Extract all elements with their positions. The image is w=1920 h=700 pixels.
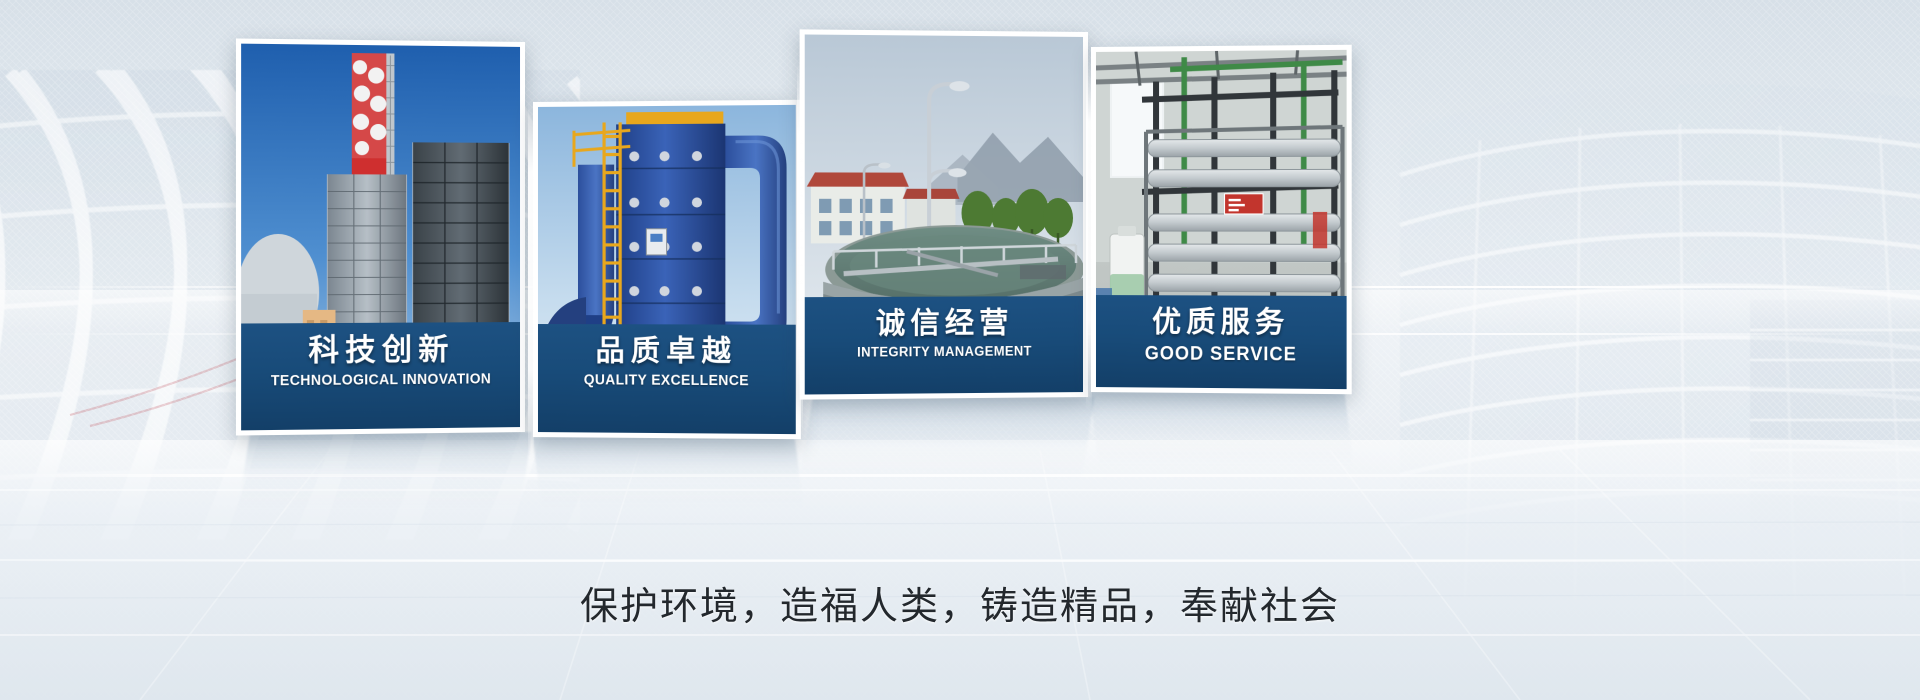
caption-plate-3: 诚信经营 INTEGRITY MANAGEMENT (805, 296, 1083, 394)
panel-good-service[interactable]: 优质服务 GOOD SERVICE (1091, 45, 1352, 394)
caption-cn-3: 诚信经营 (809, 306, 1079, 342)
hero-banner: 科技创新 TECHNOLOGICAL INNOVATION (0, 0, 1920, 700)
caption-en-1: TECHNOLOGICAL INNOVATION (252, 371, 509, 392)
caption-cn-4: 优质服务 (1100, 305, 1343, 341)
caption-plate-2: 品质卓越 QUALITY EXCELLENCE (538, 324, 796, 434)
caption-cn-1: 科技创新 (245, 332, 516, 370)
panel-technological-innovation[interactable]: 科技创新 TECHNOLOGICAL INNOVATION (236, 38, 525, 435)
caption-en-2: QUALITY EXCELLENCE (548, 371, 785, 391)
caption-cn-2: 品质卓越 (542, 334, 792, 369)
caption-plate-4: 优质服务 GOOD SERVICE (1096, 295, 1347, 389)
caption-en-3: INTEGRITY MANAGEMENT (816, 343, 1073, 362)
caption-en-4: GOOD SERVICE (1106, 342, 1336, 367)
panel-quality-excellence[interactable]: 品质卓越 QUALITY EXCELLENCE (533, 100, 801, 439)
panel-integrity-management[interactable]: 诚信经营 INTEGRITY MANAGEMENT (800, 29, 1088, 399)
caption-plate-1: 科技创新 TECHNOLOGICAL INNOVATION (241, 322, 520, 430)
tagline-text: 保护环境，造福人类，铸造精品，奉献社会 (0, 575, 1920, 630)
